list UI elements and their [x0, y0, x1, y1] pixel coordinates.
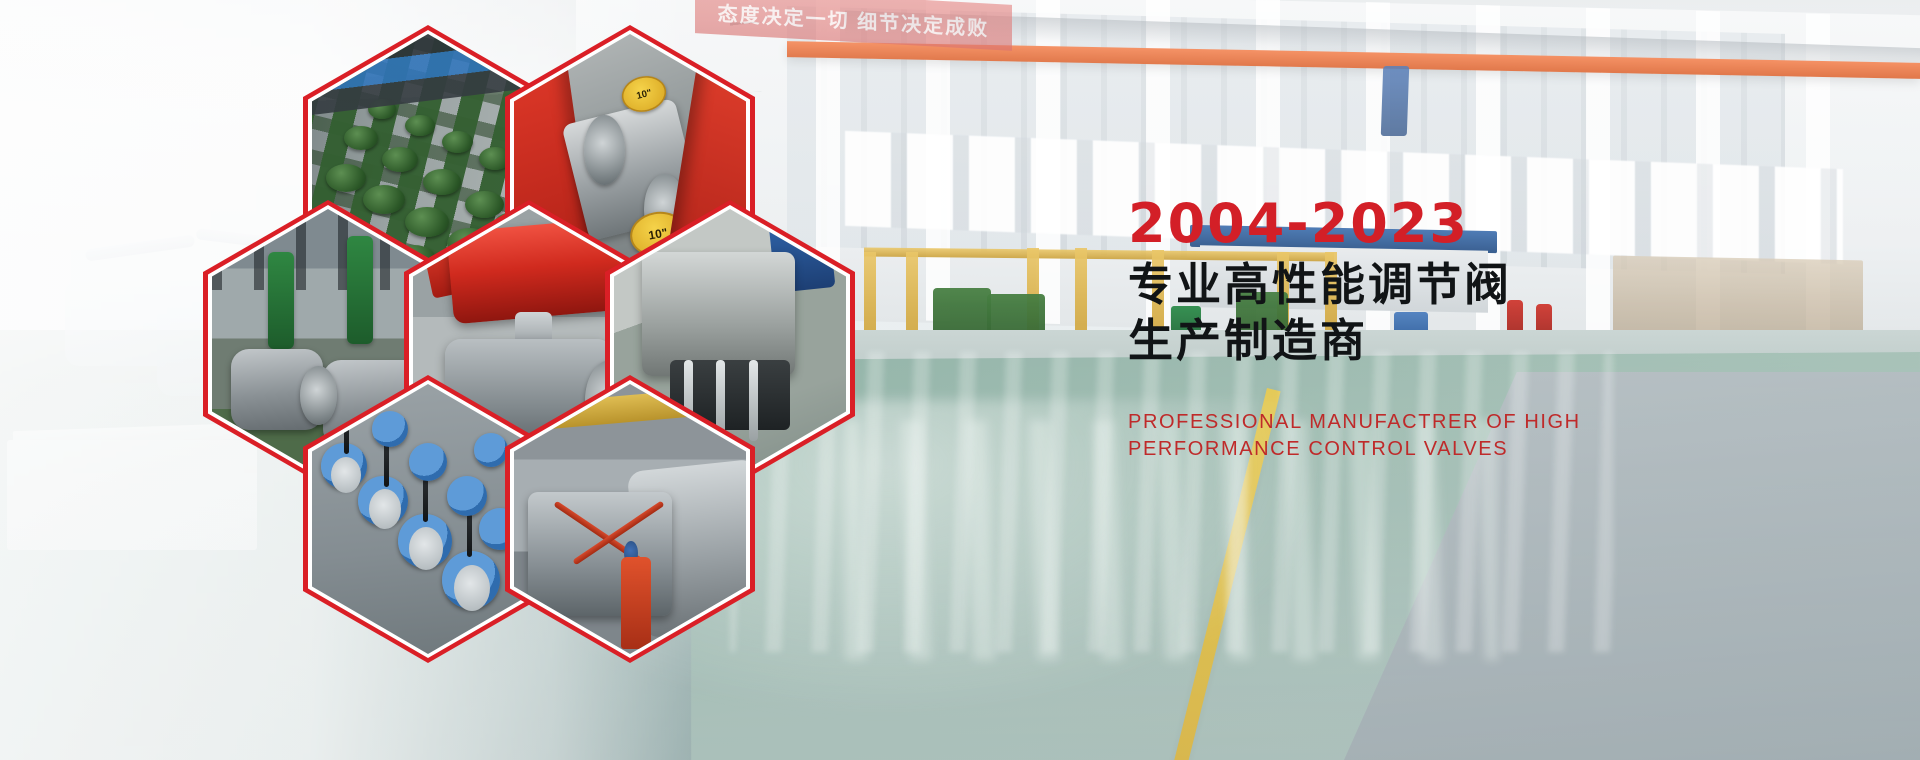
- steel-valve-body: [562, 97, 703, 240]
- hero-banner: 态度决定一切 细节决定成败: [0, 0, 1920, 760]
- subtitle-line-1: PROFESSIONAL MANUFACTRER OF HIGH: [1128, 409, 1648, 436]
- valve-flange: [584, 115, 626, 185]
- headline-line-2: 生产制造商: [1128, 313, 1648, 369]
- hex-photo-clip: [514, 384, 746, 654]
- photo-large-equipment-worker: [514, 384, 746, 654]
- subtitle-block: PROFESSIONAL MANUFACTRER OF HIGH PERFORM…: [1128, 409, 1648, 463]
- green-valve-stem: [347, 236, 373, 344]
- actuator-housing: [642, 252, 795, 376]
- valve-size-tag-label-secondary: 10": [635, 87, 652, 102]
- actuator-rod: [749, 360, 758, 441]
- worker-figure: [621, 557, 651, 649]
- years-range: 2004-2023: [1128, 196, 1648, 253]
- subtitle-line-2: PERFORMANCE CONTROL VALVES: [1128, 436, 1648, 463]
- valve-flange: [300, 366, 337, 425]
- headline-line-1: 专业高性能调节阀: [1128, 257, 1648, 313]
- green-valve-stem: [268, 252, 294, 349]
- crane-hoist: [1381, 66, 1409, 136]
- hexagon-photo-collage: 10" 10": [185, 0, 825, 630]
- hero-text-block: 2004-2023 专业高性能调节阀 生产制造商 PROFESSIONAL MA…: [1128, 196, 1648, 463]
